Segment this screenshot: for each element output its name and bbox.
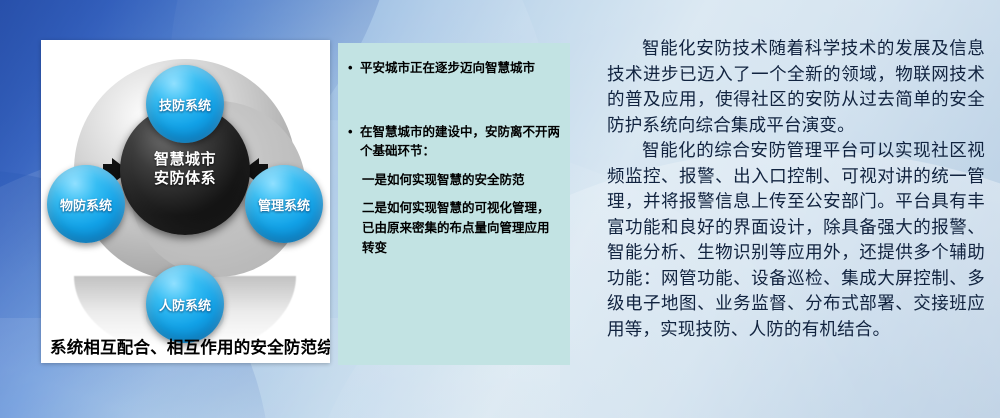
bullet-marker-1: • <box>348 59 360 78</box>
sub-item-2: 二是如何实现智慧的可视化管理，已由原来密集的布点量向管理应用转变 <box>362 198 560 258</box>
bullet-spacer <box>348 87 560 105</box>
slide-canvas: 智慧城市 安防体系 技防系统 物防系统 管理系统 人防系统 系统相互配合、相互作… <box>0 0 1000 418</box>
bullet-item-2: • 在智慧城市的建设中，安防离不开两个基础环节： <box>348 123 560 161</box>
bullet-marker-2: • <box>348 123 360 161</box>
right-paragraph-2: 智能化的综合安防管理平台可以实现社区视频监控、报警、出入口控制、可视对讲的统一管… <box>607 138 985 342</box>
diagram-node-left[interactable]: 物防系统 <box>47 165 125 243</box>
bullet-panel: • 平安城市正在逐步迈向智慧城市 • 在智慧城市的建设中，安防离不开两个基础环节… <box>338 43 570 365</box>
bullet-text-2: 在智慧城市的建设中，安防离不开两个基础环节： <box>360 123 560 161</box>
right-paragraph-1: 智能化安防技术随着科学技术的发展及信息技术进步已迈入了一个全新的领域，物联网技术… <box>607 36 985 138</box>
sub-item-1: 一是如何实现智慧的安全防范 <box>362 170 560 190</box>
core-label-line1: 智慧城市 <box>154 151 216 170</box>
bullet-panel-body: • 平安城市正在逐步迈向智慧城市 • 在智慧城市的建设中，安防离不开两个基础环节… <box>338 43 570 258</box>
bullet-text-1: 平安城市正在逐步迈向智慧城市 <box>360 59 535 78</box>
diagram-node-right[interactable]: 管理系统 <box>245 165 323 243</box>
diagram-node-bottom[interactable]: 人防系统 <box>146 265 224 343</box>
bullet-item-1: • 平安城市正在逐步迈向智慧城市 <box>348 59 560 78</box>
bullet-spacer-2 <box>348 105 560 123</box>
diagram-card: 智慧城市 安防体系 技防系统 物防系统 管理系统 人防系统 系统相互配合、相互作… <box>41 40 330 363</box>
diagram-core-label: 智慧城市 安防体系 <box>154 151 216 189</box>
right-text-column: 智能化安防技术随着科学技术的发展及信息技术进步已迈入了一个全新的领域，物联网技术… <box>607 36 985 342</box>
security-system-diagram: 智慧城市 安防体系 技防系统 物防系统 管理系统 人防系统 系统相互配合、相互作… <box>41 40 330 363</box>
core-label-line2: 安防体系 <box>154 170 216 189</box>
diagram-node-top[interactable]: 技防系统 <box>146 65 224 143</box>
diagram-caption: 系统相互配合、相互作用的安全防范综合体 <box>50 334 325 358</box>
